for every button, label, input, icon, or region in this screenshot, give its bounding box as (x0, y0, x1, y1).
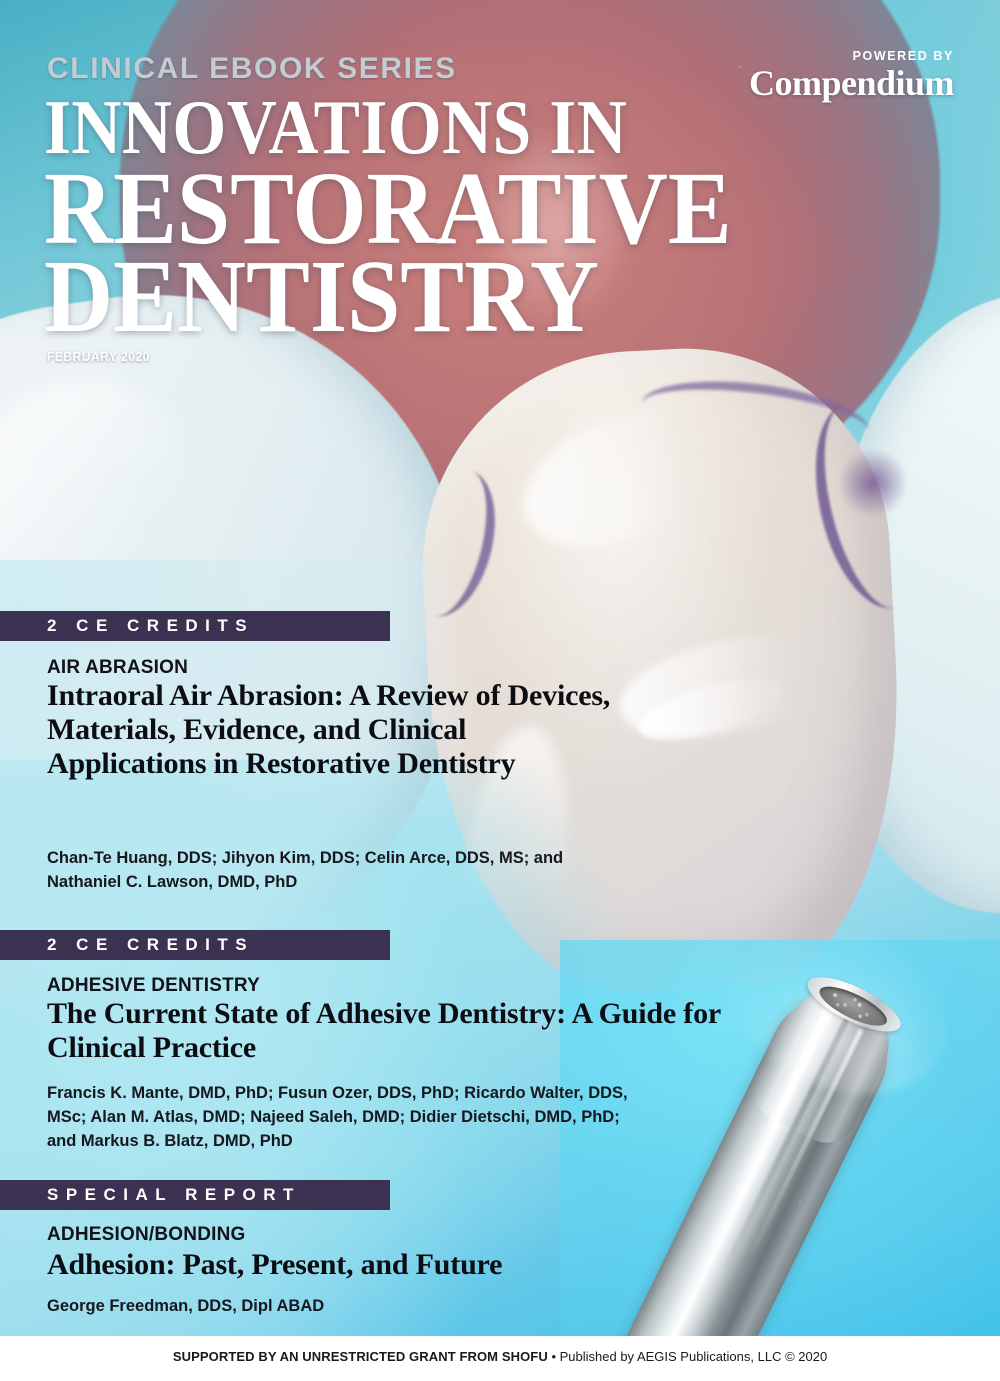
authors-article-2: Francis K. Mante, DMD, PhD; Fusun Ozer, … (47, 1082, 647, 1154)
authors-article-3: George Freedman, DDS, Dipl ABAD (47, 1295, 607, 1319)
page-title-line-3: DENTISTRY (44, 252, 844, 341)
headline-article-1[interactable]: Intraoral Air Abrasion: A Review of Devi… (47, 679, 627, 781)
footer-publisher: Published by AEGIS Publications, LLC © 2… (560, 1349, 828, 1364)
badge-special-report: SPECIAL REPORT (0, 1180, 390, 1210)
badge-ce-credits-article-1: 2 CE CREDITS (0, 611, 390, 641)
category-label-article-1: AIR ABRASION (47, 657, 188, 679)
issue-date: FEBRUARY 2020 (47, 349, 150, 364)
category-label-article-2: ADHESIVE DENTISTRY (47, 975, 260, 997)
footer-credit-line: SUPPORTED BY AN UNRESTRICTED GRANT FROM … (0, 1349, 1000, 1364)
headline-article-3[interactable]: Adhesion: Past, Present, and Future (47, 1248, 687, 1282)
series-kicker: CLINICAL EBOOK SERIES (47, 52, 457, 86)
cover-content-layer: CLINICAL EBOOK SERIES POWERED BY Compend… (0, 0, 1000, 1381)
powered-by-label: POWERED BY (749, 50, 954, 63)
footer-separator: • (548, 1349, 560, 1364)
compendium-masthead: POWERED BY Compendium (749, 50, 954, 101)
category-label-article-3: ADHESION/BONDING (47, 1224, 246, 1246)
authors-article-1: Chan-Te Huang, DDS; Jihyon Kim, DDS; Cel… (47, 847, 607, 895)
footer-bar: SUPPORTED BY AN UNRESTRICTED GRANT FROM … (0, 1336, 1000, 1381)
page-title: INNOVATIONS IN RESTORATIVE DENTISTRY (44, 94, 914, 341)
headline-article-2[interactable]: The Current State of Adhesive Dentistry:… (47, 997, 727, 1065)
ebook-cover: CLINICAL EBOOK SERIES POWERED BY Compend… (0, 0, 1000, 1381)
badge-ce-credits-article-2: 2 CE CREDITS (0, 930, 390, 960)
footer-sponsor: SUPPORTED BY AN UNRESTRICTED GRANT FROM … (173, 1349, 548, 1364)
